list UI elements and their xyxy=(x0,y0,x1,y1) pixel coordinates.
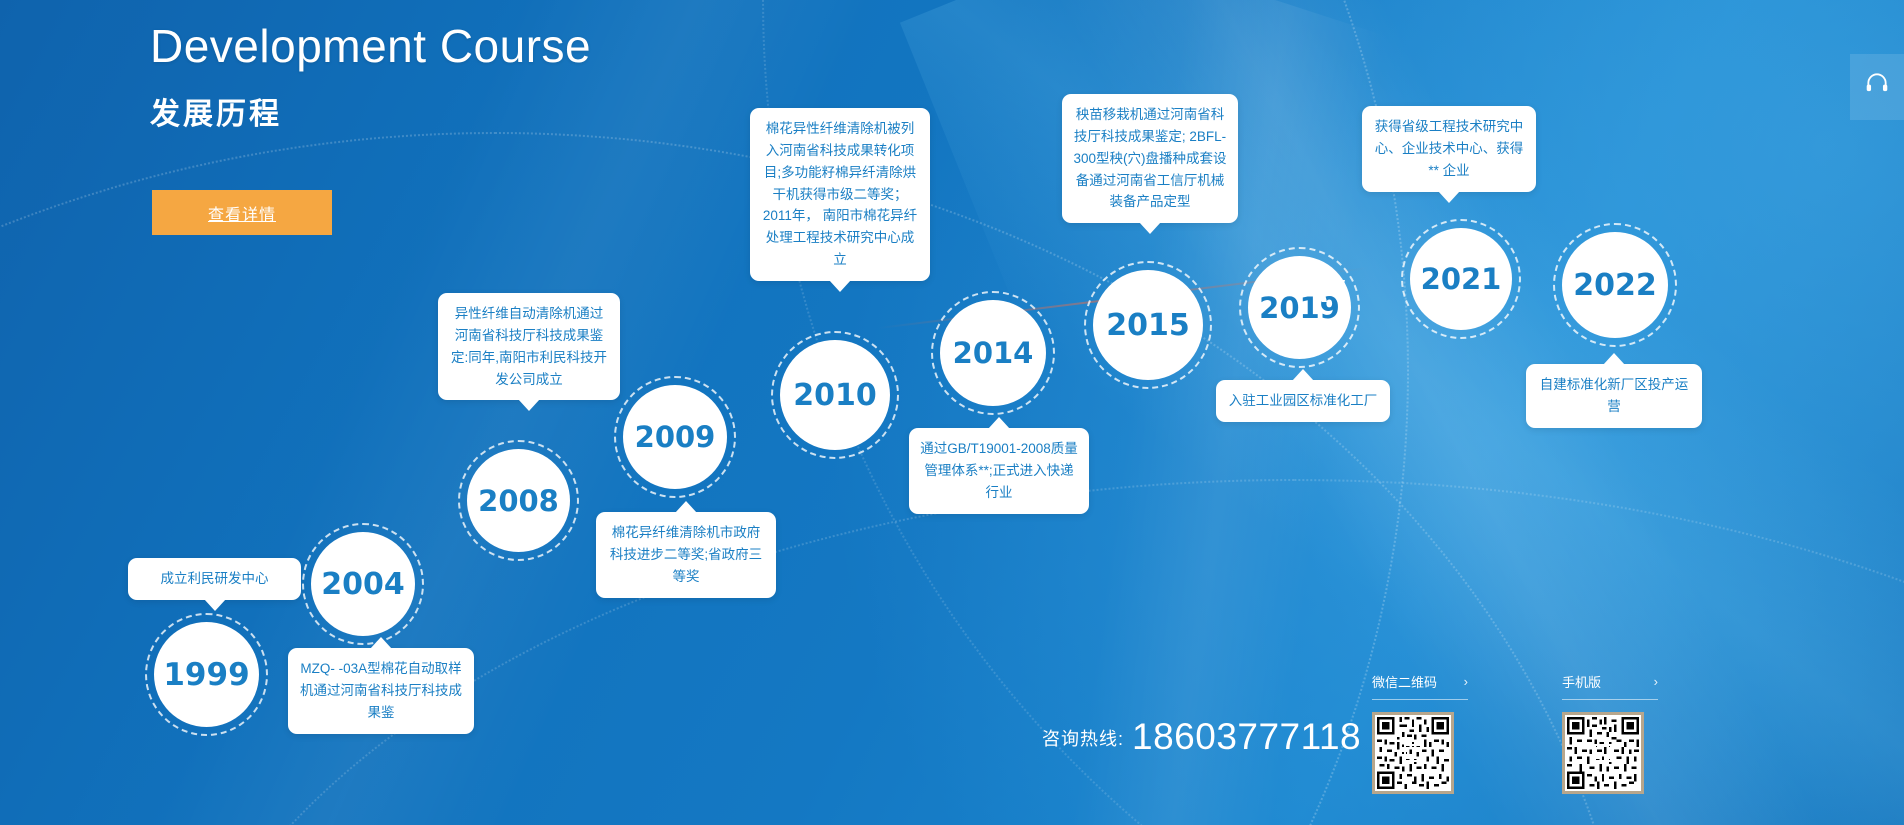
qr-header[interactable]: 微信二维码 › xyxy=(1372,672,1468,700)
timeline-year-1999[interactable]: 1999 xyxy=(154,622,259,727)
timeline-year-2004[interactable]: 2004 xyxy=(311,532,415,636)
timeline-year-2022[interactable]: 2022 xyxy=(1562,232,1668,338)
timeline-card-2008[interactable]: 异性纤维自动清除机通过河南省科技厅科技成果鉴定:同年,南阳市利民科技开发公司成立 xyxy=(438,293,620,400)
card-text: 获得省级工程技术研究中心、企业技术中心、获得** 企业 xyxy=(1375,119,1524,178)
card-pointer xyxy=(1139,222,1161,234)
card-text: 自建标准化新厂区投产运营 xyxy=(1540,377,1689,414)
hotline-label: 咨询热线: xyxy=(1042,725,1124,755)
qr-block-mobile[interactable]: 手机版 › xyxy=(1562,672,1658,794)
qr-center-logo xyxy=(1594,744,1612,762)
qr-code-image xyxy=(1372,712,1454,794)
timeline-card-2014[interactable]: 通过GB/T19001-2008质量管理体系**;正式进入快递行业 xyxy=(909,428,1089,514)
timeline-card-2004[interactable]: MZQ- -03A型棉花自动取样机通过河南省科技厅科技成果鉴 xyxy=(288,648,474,734)
qr-label: 微信二维码 xyxy=(1372,672,1437,691)
year-label: 2022 xyxy=(1573,268,1657,303)
timeline-card-2021[interactable]: 获得省级工程技术研究中心、企业技术中心、获得** 企业 xyxy=(1362,106,1536,192)
year-label: 2008 xyxy=(478,484,559,518)
timeline-year-2015[interactable]: 2015 xyxy=(1093,270,1203,380)
card-pointer xyxy=(204,599,226,611)
timeline-year-2010[interactable]: 2010 xyxy=(780,340,890,450)
timeline-card-2010[interactable]: 棉花异性纤维清除机被列入河南省科技成果转化项目;多功能籽棉异纤清除烘干机获得市级… xyxy=(750,108,930,281)
year-label: 2009 xyxy=(635,420,716,454)
card-pointer xyxy=(1603,353,1625,365)
card-text: 通过GB/T19001-2008质量管理体系**;正式进入快递行业 xyxy=(920,441,1078,500)
view-details-button[interactable]: 查看详情 xyxy=(152,190,332,235)
timeline-card-2022[interactable]: 自建标准化新厂区投产运营 xyxy=(1526,364,1702,428)
timeline-card-2009[interactable]: 棉花异纤维清除机市政府科技进步二等奖;省政府三等奖 xyxy=(596,512,776,598)
card-pointer xyxy=(1292,369,1314,381)
hotline-block: 咨询热线: 18603777118 xyxy=(1042,718,1361,755)
customer-service-button[interactable] xyxy=(1850,54,1904,120)
qr-center-logo xyxy=(1404,744,1422,762)
headset-icon xyxy=(1864,70,1890,101)
chevron-right-icon: › xyxy=(1464,674,1468,689)
card-text: 秧苗移栽机通过河南省科技厅科技成果鉴定; 2BFL- 300型秧(穴)盘播种成套… xyxy=(1073,107,1226,209)
timeline-year-2009[interactable]: 2009 xyxy=(623,385,727,489)
timeline-card-2015[interactable]: 秧苗移栽机通过河南省科技厅科技成果鉴定; 2BFL- 300型秧(穴)盘播种成套… xyxy=(1062,94,1238,223)
year-label: 2004 xyxy=(321,567,405,602)
qr-header[interactable]: 手机版 › xyxy=(1562,672,1658,700)
hotline-number: 18603777118 xyxy=(1132,718,1361,755)
page-title-en: Development Course xyxy=(150,20,591,73)
year-label: 1999 xyxy=(163,657,249,693)
card-pointer xyxy=(829,280,851,292)
card-pointer xyxy=(988,417,1010,429)
chevron-right-icon: › xyxy=(1654,674,1658,689)
timeline-year-2021[interactable]: 2021 xyxy=(1410,228,1512,330)
timeline-year-2014[interactable]: 2014 xyxy=(940,300,1046,406)
page-title-cn: 发展历程 xyxy=(150,89,591,133)
card-text: 成立利民研发中心 xyxy=(161,571,269,586)
qr-code-image xyxy=(1562,712,1644,794)
qr-block-wechat[interactable]: 微信二维码 › xyxy=(1372,672,1468,794)
timeline-year-2008[interactable]: 2008 xyxy=(467,449,570,552)
card-pointer xyxy=(518,399,540,411)
card-pointer xyxy=(675,501,697,513)
card-text: 异性纤维自动清除机通过河南省科技厅科技成果鉴定:同年,南阳市利民科技开发公司成立 xyxy=(451,306,607,387)
page-header: Development Course 发展历程 xyxy=(150,20,591,133)
card-text: 棉花异纤维清除机市政府科技进步二等奖;省政府三等奖 xyxy=(610,525,762,584)
card-text: 入驻工业园区标准化工厂 xyxy=(1229,393,1378,408)
card-pointer xyxy=(1438,191,1460,203)
view-details-label: 查看详情 xyxy=(208,201,276,225)
airplane-icon xyxy=(1300,272,1348,311)
year-label: 2015 xyxy=(1106,308,1190,343)
page-root: Development Course 发展历程 查看详情 1999 成立利民研发… xyxy=(0,0,1904,825)
year-label: 2014 xyxy=(953,336,1034,370)
timeline-card-1999[interactable]: 成立利民研发中心 xyxy=(128,558,301,600)
card-text: 棉花异性纤维清除机被列入河南省科技成果转化项目;多功能籽棉异纤清除烘干机获得市级… xyxy=(763,121,917,267)
year-label: 2010 xyxy=(793,378,877,413)
card-text: MZQ- -03A型棉花自动取样机通过河南省科技厅科技成果鉴 xyxy=(300,661,462,720)
year-label: 2021 xyxy=(1421,262,1502,296)
timeline-card-2019[interactable]: 入驻工业园区标准化工厂 xyxy=(1216,380,1390,422)
qr-label: 手机版 xyxy=(1562,672,1601,691)
